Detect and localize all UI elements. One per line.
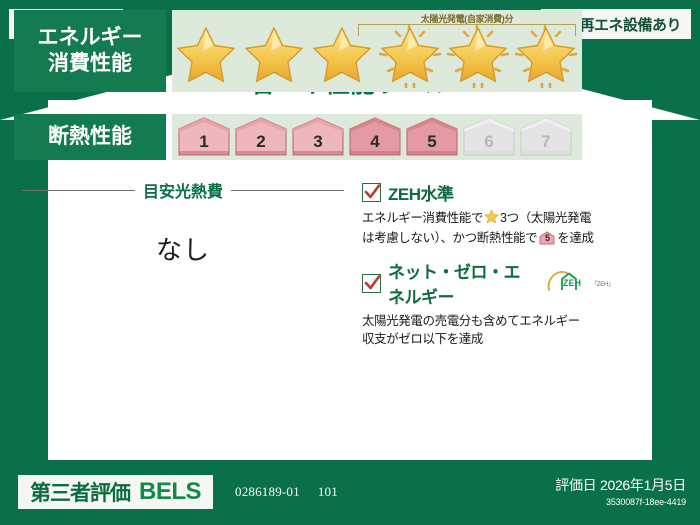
net-zero-heading: ネット・ゼロ・エネルギー ZEH 「ZEH」 <box>362 258 614 308</box>
energy-star-panel: 太陽光発電(自家消費)分 <box>172 10 582 92</box>
star-sparkle <box>376 24 444 88</box>
inline-house-icon: 5 <box>539 231 555 250</box>
insulation-performance-label: 断熱性能 <box>14 114 166 160</box>
heading-rule-right <box>231 190 344 191</box>
insulation-level-value: 7 <box>541 132 550 152</box>
bels-en-text: BELS <box>139 478 201 506</box>
insulation-level-value: 3 <box>313 132 322 152</box>
evaluation-date: 評価日 2026年1月5日 <box>555 475 686 495</box>
energy-performance-row: エネルギー 消費性能 太陽光発電(自家消費)分 <box>14 10 582 92</box>
svg-text:ZEH: ZEH <box>563 278 581 288</box>
net-zero-title: ネット・ゼロ・エネルギー <box>388 258 535 308</box>
evaluation-date-block: 評価日 2026年1月5日 3530087f-18ee-4419 <box>555 475 686 507</box>
zeh-logo-trademark: 「ZEH」 <box>591 279 614 288</box>
star-solid <box>172 24 240 88</box>
energy-label-line2: 消費性能 <box>48 51 132 77</box>
zeh-standard-checkbox[interactable] <box>362 183 381 202</box>
insulation-level-2: 2 <box>234 116 288 156</box>
insulation-label-text: 断熱性能 <box>48 124 132 150</box>
insulation-level-7: 7 <box>519 116 573 156</box>
bels-number: 0286189-01101 <box>235 484 338 500</box>
bels-number-main: 0286189-01 <box>235 484 300 499</box>
insulation-level-value: 4 <box>370 132 379 152</box>
zeh-logo-icon: ZEH <box>546 270 584 297</box>
zeh-standard-block: ZEH水準 エネルギー消費性能で3つ（太陽光発電 は考慮しない）、かつ断熱性能で… <box>362 180 614 250</box>
net-zero-energy-block: ネット・ゼロ・エネルギー ZEH 「ZEH」 太陽光発電の売電分も含めてエネルギ… <box>362 258 614 348</box>
star-sparkle <box>444 24 512 88</box>
insulation-level-scale: 1 2 3 4 5 6 <box>177 116 573 156</box>
net-zero-description: 太陽光発電の売電分も含めてエネルギー 収支がゼロ以下を達成 <box>362 312 614 348</box>
star-solid <box>308 24 376 88</box>
insulation-level-value: 2 <box>256 132 265 152</box>
utility-cost-block: 目安光熱費 なし <box>22 178 344 267</box>
zeh-desc-part4: を達成 <box>557 231 593 245</box>
renewable-badge-text: 再エネ設備あり <box>579 14 681 35</box>
energy-performance-label: 住宅（住戸） 再エネ設備あり 建築物省エネ法に基づく 省エネ性能ラベル <box>0 0 700 525</box>
insulation-performance-row: 断熱性能 1 2 3 4 5 <box>14 114 582 160</box>
zeh-desc-part1: エネルギー消費性能で <box>362 211 483 225</box>
energy-label-line1: エネルギー <box>38 25 143 51</box>
insulation-level-4: 4 <box>348 116 402 156</box>
insulation-level-6: 6 <box>462 116 516 156</box>
insulation-level-3: 3 <box>291 116 345 156</box>
bels-badge: 第三者評価 BELS <box>18 475 213 509</box>
zeh-desc-part2: 3つ（太陽光発電 <box>500 211 591 225</box>
label-uuid: 3530087f-18ee-4419 <box>555 497 686 507</box>
inline-house-value: 5 <box>539 231 555 245</box>
heading-rule-left <box>22 190 135 191</box>
utility-cost-value: なし <box>22 230 344 267</box>
inline-star-icon <box>484 209 499 229</box>
net-zero-checkbox[interactable] <box>362 274 381 293</box>
utility-cost-heading-text: 目安光熱費 <box>143 178 223 202</box>
label-footer: 第三者評価 BELS 0286189-01101 評価日 2026年1月5日 3… <box>0 465 700 525</box>
star-rating <box>172 23 582 89</box>
net-zero-desc-line2: 収支がゼロ以下を達成 <box>362 332 483 346</box>
star-solid <box>240 24 308 88</box>
insulation-level-value: 1 <box>199 132 208 152</box>
energy-performance-label: エネルギー 消費性能 <box>14 10 166 92</box>
insulation-level-value: 6 <box>484 132 493 152</box>
zeh-standard-title: ZEH水準 <box>388 180 454 205</box>
utility-cost-heading: 目安光熱費 <box>22 178 344 202</box>
insulation-level-5: 5 <box>405 116 459 156</box>
insulation-scale-panel: 1 2 3 4 5 6 <box>172 114 582 160</box>
zeh-desc-part3: は考慮しない）、かつ断熱性能で <box>362 231 537 245</box>
bels-jp-text: 第三者評価 <box>30 477 130 507</box>
star-sparkle <box>512 24 580 88</box>
insulation-level-value: 5 <box>427 132 436 152</box>
bels-number-sub: 101 <box>318 484 338 499</box>
insulation-level-1: 1 <box>177 116 231 156</box>
net-zero-desc-line1: 太陽光発電の売電分も含めてエネルギー <box>362 314 580 328</box>
zeh-standard-description: エネルギー消費性能で3つ（太陽光発電 は考慮しない）、かつ断熱性能で5を達成 <box>362 209 614 250</box>
zeh-standard-heading: ZEH水準 <box>362 180 614 205</box>
